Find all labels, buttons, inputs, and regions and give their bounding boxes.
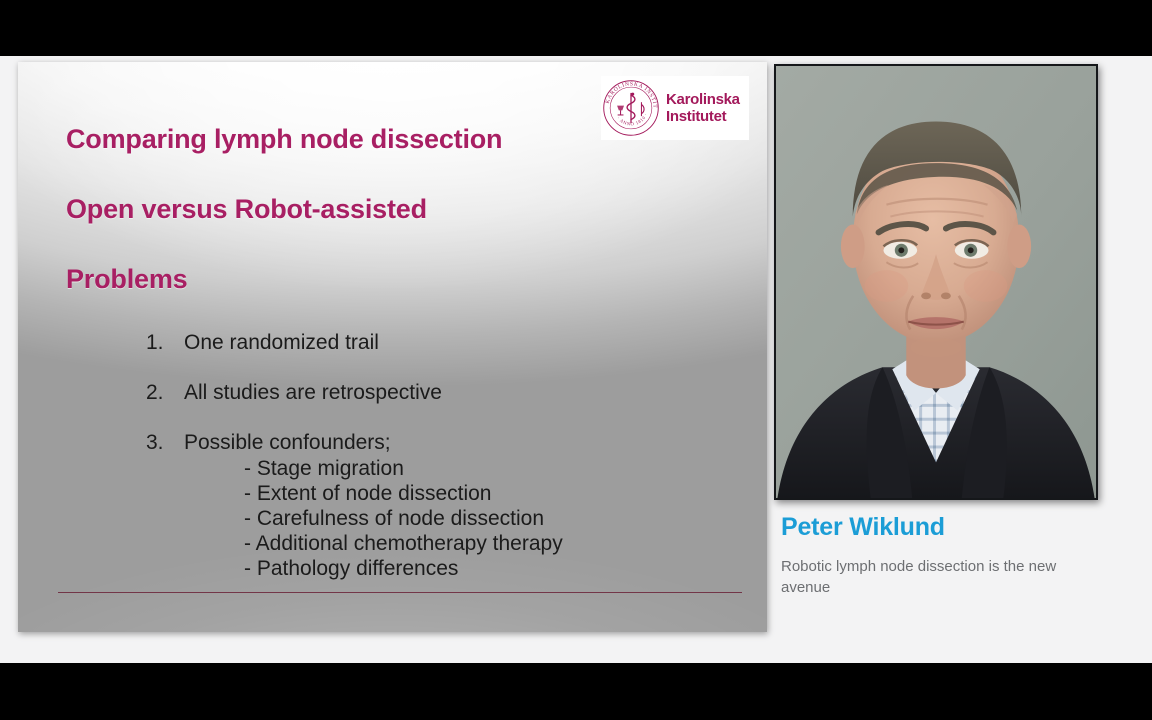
list-item-number: 3. — [146, 430, 184, 581]
slide-panel[interactable]: Comparing lymph node dissection Open ver… — [18, 62, 767, 632]
karolinska-wordmark-line2: Institutet — [666, 108, 740, 125]
karolinska-seal-icon: KAROLINSKA INSTITUTET · ANNO 1810 · — [602, 79, 660, 137]
slide-heading-2: Open versus Robot-assisted — [66, 194, 427, 225]
sub-list-item: - Pathology differences — [244, 556, 706, 581]
list-item-label: Possible confounders; — [184, 431, 391, 454]
speaker-name: Peter Wiklund — [781, 513, 945, 542]
slide-heading-3: Problems — [66, 264, 187, 295]
karolinska-wordmark: Karolinska Institutet — [666, 91, 740, 125]
list-item-number: 1. — [146, 330, 184, 355]
problems-list: 1. One randomized trail 2. All studies a… — [146, 330, 706, 581]
list-item-number: 2. — [146, 380, 184, 405]
speaker-portrait-photo — [774, 64, 1098, 500]
karolinska-wordmark-line1: Karolinska — [666, 91, 740, 108]
letterbox-bottom-bar — [0, 663, 1152, 720]
presentation-content-area: Comparing lymph node dissection Open ver… — [0, 56, 1152, 663]
karolinska-logo: KAROLINSKA INSTITUTET · ANNO 1810 · — [601, 76, 749, 140]
slide-heading-1: Comparing lymph node dissection — [66, 124, 502, 155]
list-item-label: One randomized trail — [184, 331, 379, 354]
list-item: 2. All studies are retrospective — [146, 380, 706, 405]
sub-list-item: - Carefulness of node dissection — [244, 506, 706, 531]
video-player-viewport: Comparing lymph node dissection Open ver… — [0, 0, 1152, 720]
list-item: 3. Possible confounders; - Stage migrati… — [146, 430, 706, 581]
sub-list-item: - Stage migration — [244, 456, 706, 481]
sub-list-item: - Additional chemotherapy therapy — [244, 531, 706, 556]
list-item-label: All studies are retrospective — [184, 381, 442, 404]
speaker-talk-subtitle: Robotic lymph node dissection is the new… — [781, 556, 1081, 598]
letterbox-top-bar — [0, 0, 1152, 56]
list-item: 1. One randomized trail — [146, 330, 706, 355]
sub-list-item: - Extent of node dissection — [244, 481, 706, 506]
slide-divider-rule — [58, 592, 742, 593]
confounders-sub-list: - Stage migration - Extent of node disse… — [184, 456, 706, 581]
